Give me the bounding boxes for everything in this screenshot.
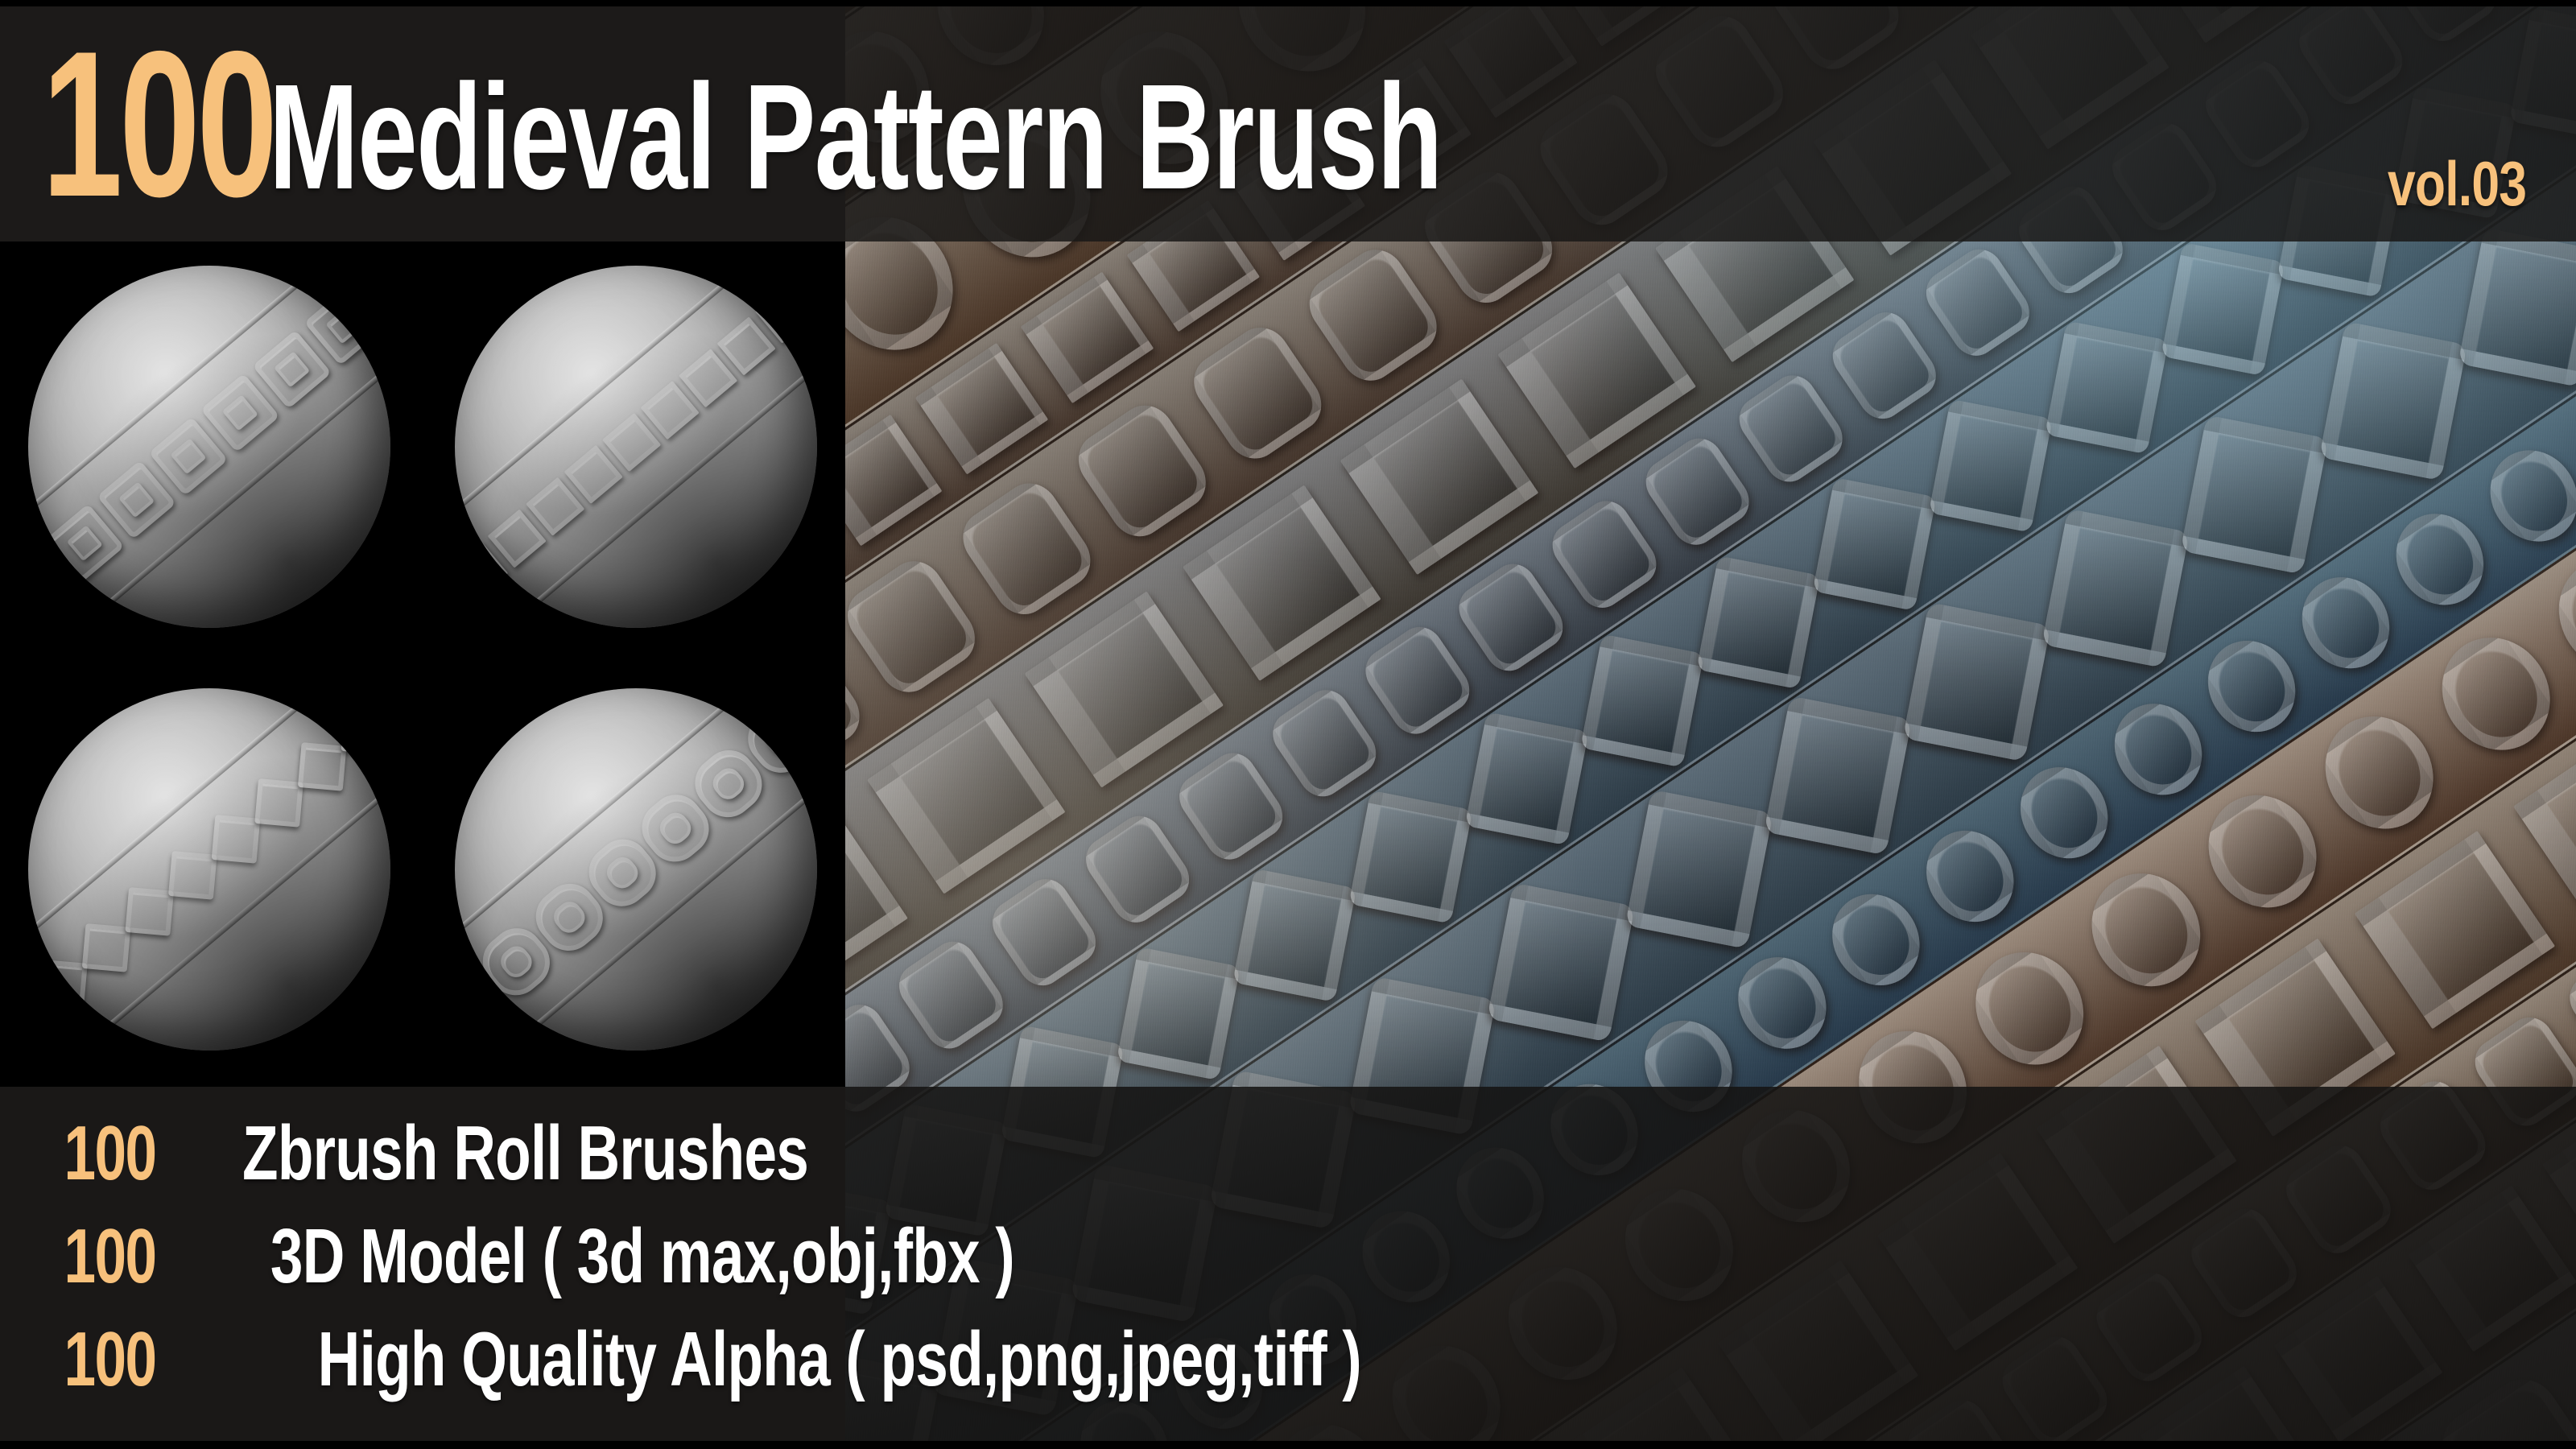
feature-count: 100 <box>64 1109 154 1198</box>
volume-badge: vol.03 <box>2388 147 2526 221</box>
ornament-motif <box>2181 415 2329 574</box>
feature-row: 1003D Model ( 3d max,obj,fbx ) <box>48 1212 2576 1315</box>
sphere-motif <box>384 688 390 719</box>
feature-list: 100Zbrush Roll Brushes1003D Model ( 3d m… <box>0 1087 2576 1443</box>
sphere-bottom-left <box>28 688 390 1051</box>
feature-band: 100Zbrush Roll Brushes1003D Model ( 3d m… <box>0 1087 2576 1443</box>
product-banner: 100 Medieval Pattern Brush vol.03 100Zbr… <box>0 0 2576 1449</box>
ornament-motif <box>1348 791 1472 924</box>
sphere-ornament-band <box>455 688 817 1051</box>
sphere-motif <box>298 742 347 791</box>
ornament-motif <box>1117 947 1241 1080</box>
ornament-motif <box>1696 555 1820 689</box>
feature-label: Zbrush Roll Brushes <box>242 1109 808 1198</box>
sphere-ornament-band <box>28 266 390 628</box>
sphere-bottom-right <box>455 688 817 1051</box>
feature-row: 100Zbrush Roll Brushes <box>48 1109 2576 1212</box>
sphere-ornament-band <box>455 266 817 628</box>
sphere-motif <box>39 960 88 1009</box>
ornament-motif <box>1487 883 1635 1042</box>
ornament-motif <box>1580 634 1704 767</box>
sphere-ornament-band <box>28 688 390 1051</box>
sphere-motif <box>125 887 174 936</box>
feature-label: High Quality Alpha ( psd,png,jpeg,tiff ) <box>318 1315 1361 1404</box>
ornament-motif <box>1464 712 1588 845</box>
sphere-motif <box>168 851 217 900</box>
ornament-motif <box>2041 509 2190 668</box>
feature-row: 100High Quality Alpha ( psd,png,jpeg,tif… <box>48 1315 2576 1418</box>
ornament-motif <box>1813 477 1937 611</box>
sphere-top-right <box>455 266 817 628</box>
feature-count: 100 <box>64 1212 154 1301</box>
ornament-motif <box>1929 398 2053 532</box>
header-count: 100 <box>42 41 275 207</box>
feature-count: 100 <box>64 1315 154 1404</box>
ornament-motif <box>2161 242 2285 376</box>
ornament-motif <box>2045 320 2169 454</box>
ornament-motif <box>1625 790 1773 949</box>
ornament-motif <box>1232 869 1356 1002</box>
page-title: Medieval Pattern Brush <box>269 73 1442 202</box>
ornament-motif <box>2319 321 2467 481</box>
zbrush-sphere-previews <box>0 242 845 1087</box>
feature-label: 3D Model ( 3d max,obj,fbx ) <box>270 1212 1014 1301</box>
sphere-top-left <box>28 266 390 628</box>
bottom-border-strip <box>0 1441 2576 1449</box>
sphere-motif <box>254 778 303 828</box>
sphere-motif <box>341 706 390 755</box>
banner-header: 100 Medieval Pattern Brush vol.03 <box>0 6 2576 242</box>
ornament-motif <box>1765 696 1913 855</box>
top-border-strip <box>0 0 2576 6</box>
sphere-motif <box>82 923 131 972</box>
ornament-motif <box>1903 602 2051 762</box>
sphere-motif <box>212 815 261 864</box>
